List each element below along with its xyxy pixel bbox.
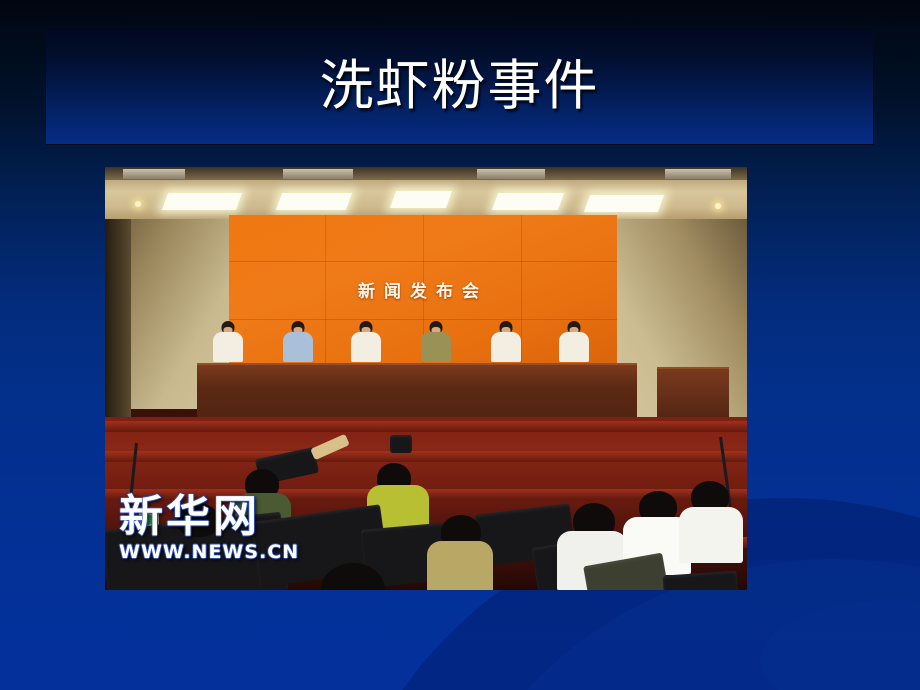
seat-row [105, 421, 747, 432]
panelist-body [491, 332, 521, 362]
seat-row [105, 451, 747, 462]
panelist [281, 321, 315, 365]
ceiling-spotlight [715, 203, 721, 209]
backdrop-banner-text: 新闻发布会 [229, 277, 617, 302]
press-conference-photo[interactable]: 新闻发布会 [105, 167, 747, 590]
panelist-body [421, 332, 451, 362]
panelist [349, 321, 383, 365]
ceiling-light [584, 195, 664, 212]
panelist-body [351, 332, 381, 362]
panelist [211, 321, 245, 365]
presentation-slide: 洗虾粉事件 [0, 0, 920, 690]
ceiling-light [390, 191, 452, 208]
slide-title-box[interactable]: 洗虾粉事件 [45, 27, 874, 145]
ceiling-light [492, 193, 564, 210]
ceiling-light [162, 193, 242, 210]
background-swoosh-accent [760, 600, 920, 690]
ceiling-panel [477, 169, 545, 179]
journalist-head [177, 503, 219, 537]
panelist [489, 321, 523, 365]
wall-left-shadow [105, 219, 131, 419]
ceiling-panel [665, 169, 731, 179]
journalist-torso [679, 507, 743, 563]
panelist-body [213, 332, 243, 362]
panelist [419, 321, 453, 365]
panelist-body [559, 332, 589, 362]
ceiling-light [276, 193, 352, 210]
photo-scene: 新闻发布会 [105, 167, 747, 590]
audience-floor [105, 417, 747, 590]
panelist-body [283, 332, 313, 362]
panelist [557, 321, 591, 365]
ceiling-panel [123, 169, 185, 179]
slide-title: 洗虾粉事件 [320, 59, 600, 113]
ceiling-spotlight [135, 201, 141, 207]
camera [390, 435, 412, 453]
journalist-torso [427, 541, 493, 590]
ceiling-panel [283, 169, 353, 179]
ceiling-strip [105, 167, 747, 180]
